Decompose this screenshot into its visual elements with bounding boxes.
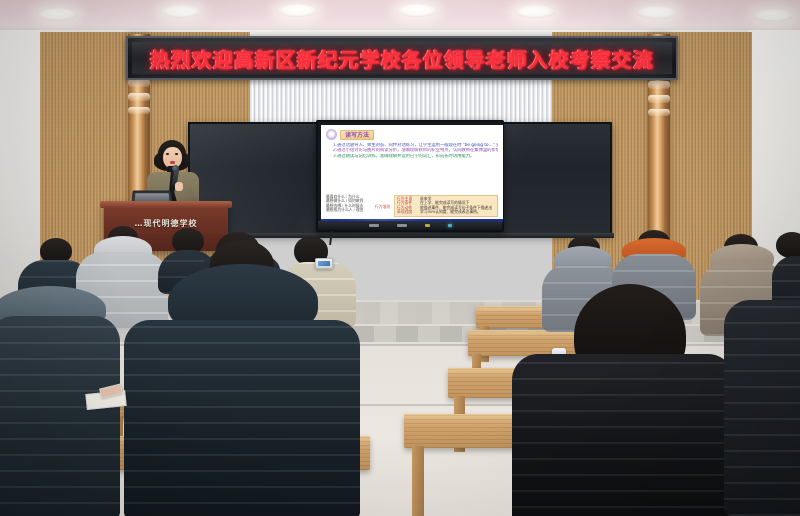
slide-header: 读写方法 <box>326 129 498 140</box>
display-screen: 读写方法 1.通过话题导入、师生对答、同伴对话练习，让学生运用一般现在时 "be… <box>321 125 503 223</box>
display-button[interactable] <box>369 224 379 227</box>
ceiling-downlight <box>514 5 556 18</box>
speaker-eye-left <box>166 153 169 155</box>
school-emblem-icon <box>326 129 337 140</box>
speaker-mouth <box>170 161 175 164</box>
slide-note: 最想成为什么人 / 理由 <box>326 208 372 213</box>
slide-title: 读写方法 <box>340 130 374 140</box>
presentation-slide: 读写方法 1.通过话题导入、师生对答、同伴对话练习，让学生运用一般现在时 "be… <box>321 125 503 223</box>
display-power-led <box>425 224 430 227</box>
audience-member-front-right-black-longhair <box>512 292 734 516</box>
head <box>776 232 800 258</box>
table-row: 表现程度 学习90%认知度、能完成表达事例。 <box>397 210 495 215</box>
interactive-display[interactable]: 读写方法 1.通过话题导入、师生对答、同伴对话练习，让学生运用一般现在时 "be… <box>316 120 504 232</box>
display-status-led <box>448 224 452 227</box>
display-button[interactable] <box>397 224 407 227</box>
table-key: 表现程度 <box>397 210 417 215</box>
ceiling <box>0 0 800 34</box>
slide-left-notes: 最喜欢什么 / 为什么 最想做什么 / 如何做到 最想去哪 / 什么时候去 最想… <box>326 195 372 213</box>
welcome-banner-text: 热烈欢迎高新区新纪元学校各位领导老师入校考察交流 <box>150 44 654 73</box>
ceiling-downlight <box>276 4 318 17</box>
table-value: 学习90%认知度、能完成表达事例。 <box>420 210 481 215</box>
slide-bottom-block: 最喜欢什么 / 为什么 最想做什么 / 如何做到 最想去哪 / 什么时候去 最想… <box>326 195 498 217</box>
ceiling-downlight <box>160 5 202 18</box>
slide-criteria-table: 行为主语 谁来学 行为条件 在上学、能完成读写的情况下 行为动作 能描述事件、能… <box>394 195 498 217</box>
coat <box>0 316 120 516</box>
slide-mid-label: 行为准则 <box>375 195 391 210</box>
ceiling-downlight <box>636 6 678 19</box>
slide-line: 3.通过朗读与记忆训练，准确理解并运用已学的词汇，形成长时语用能力。 <box>326 154 498 159</box>
classroom-photo-scene: 热烈欢迎高新区新纪元学校各位领导老师入校考察交流 读写方法 1.通过话题导入、师… <box>0 0 800 516</box>
audience-member-far-right-front <box>724 300 800 516</box>
slide-body: 1.通过话题导入、师生对答、同伴对话练习，让学生运用一般现在时 "be goin… <box>326 143 498 159</box>
audience-member-front-navy-hooded-large <box>124 262 360 516</box>
microphone-head <box>172 165 179 172</box>
podium-top-edge <box>100 201 232 208</box>
speaker-eye-right <box>175 153 178 155</box>
display-bottom-bezel[interactable] <box>318 221 502 230</box>
coat <box>124 320 360 516</box>
coat <box>724 300 800 516</box>
ceiling-downlight <box>752 9 794 22</box>
coat <box>512 354 734 516</box>
ceiling-downlight <box>396 4 438 17</box>
ceiling-downlight <box>36 8 78 21</box>
welcome-banner: 热烈欢迎高新区新纪元学校各位领导老师入校考察交流 <box>126 36 678 80</box>
speaker-hand <box>175 182 183 191</box>
